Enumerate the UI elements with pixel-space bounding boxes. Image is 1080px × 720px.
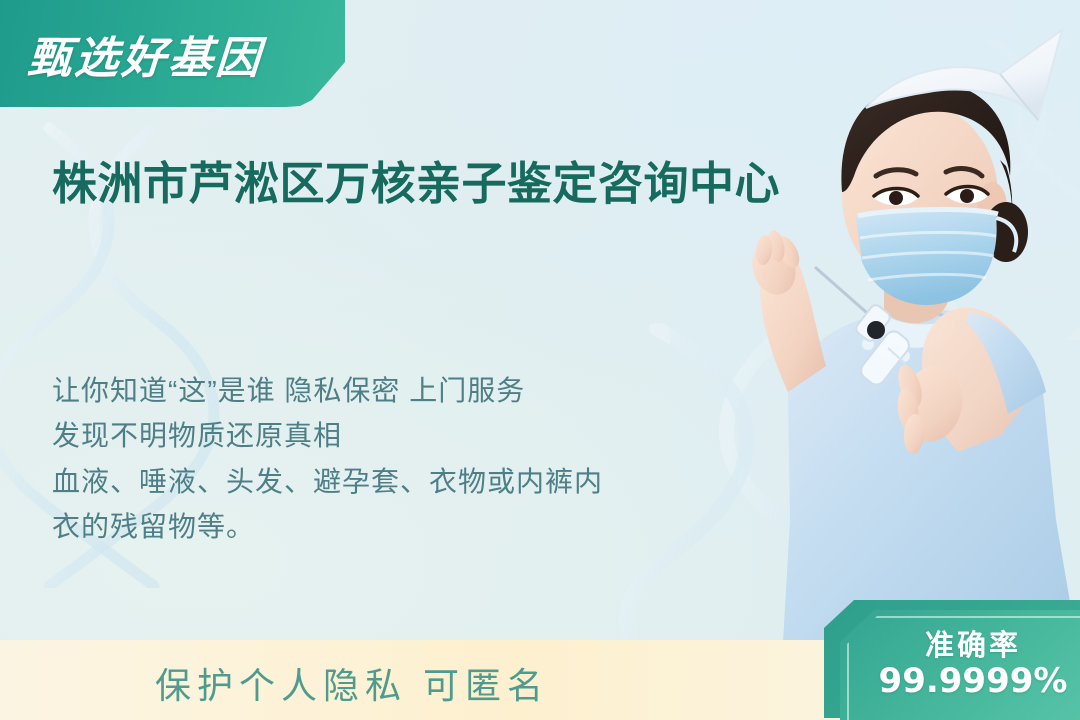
description-line: 血液、唾液、头发、避孕套、衣物或内裤内: [52, 459, 752, 504]
accuracy-badge-value: 99.9999%: [879, 662, 1068, 700]
brand-banner: 甄选好基因: [0, 0, 345, 107]
nurse-photo: [670, 0, 1080, 660]
description-line: 让你知道“这”是谁 隐私保密 上门服务: [52, 368, 752, 413]
description-line: 发现不明物质还原真相: [52, 413, 752, 458]
page-title: 株洲市芦淞区万核亲子鉴定咨询中心: [52, 155, 852, 214]
description-line: 衣的残留物等。: [52, 504, 752, 549]
promo-banner-canvas: 甄选好基因 株洲市芦淞区万核亲子鉴定咨询中心 让你知道“这”是谁 隐私保密 上门…: [0, 0, 1080, 720]
accuracy-badge-panel: 准确率 99.9999%: [840, 610, 1080, 720]
service-description: 让你知道“这”是谁 隐私保密 上门服务 发现不明物质还原真相 血液、唾液、头发、…: [52, 368, 752, 549]
brand-banner-label: 甄选好基因: [26, 22, 265, 86]
accuracy-badge: 准确率 99.9999%: [818, 600, 1080, 720]
dna-helix-icon: [930, 40, 1080, 340]
privacy-tagline: 保护个人隐私 可匿名: [155, 657, 549, 709]
accuracy-badge-label: 准确率: [925, 630, 1021, 662]
